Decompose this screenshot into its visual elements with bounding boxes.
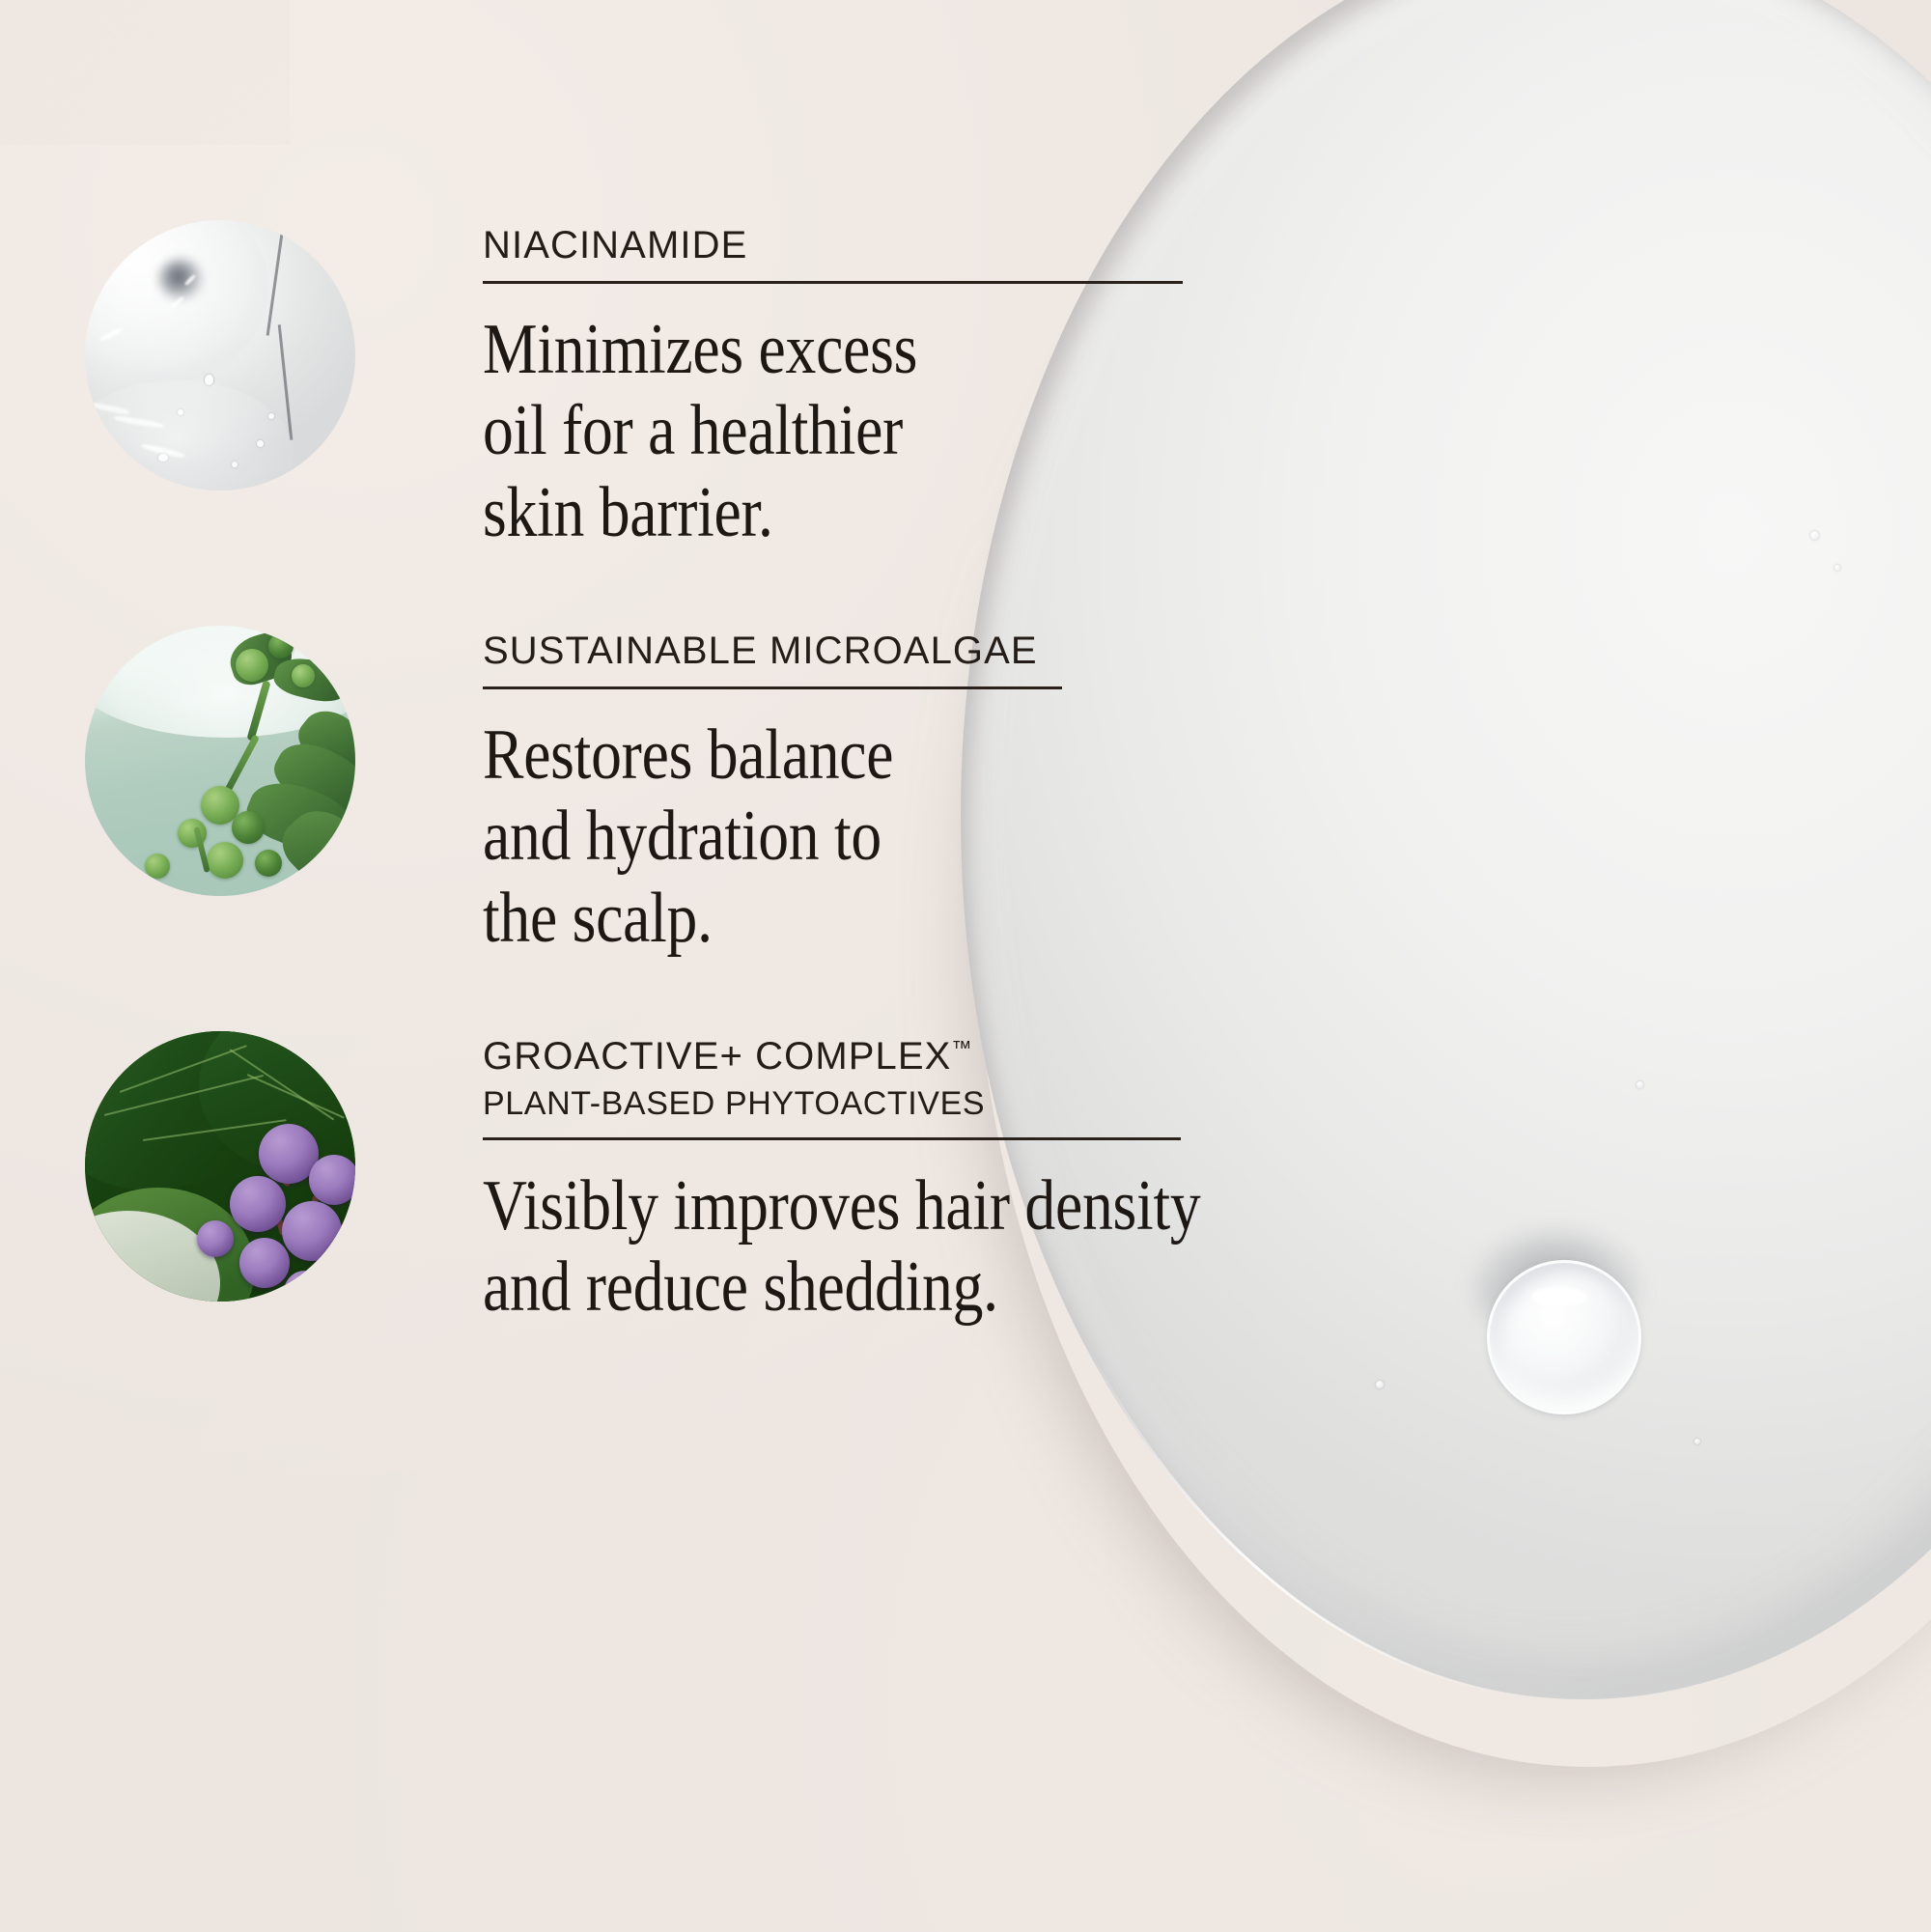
ingredient-benefits-graphic: NIACINAMIDE Minimizes excess oil for a h… — [0, 0, 1931, 1932]
heading-divider — [483, 686, 1062, 689]
purple-berries-leaf-image — [85, 1031, 355, 1302]
ingredient-heading: NIACINAMIDE — [483, 224, 1183, 267]
trademark-symbol: ™ — [951, 1038, 971, 1060]
ingredient-subheading: PLANT-BASED PHYTOACTIVES — [483, 1084, 1318, 1124]
ingredient-heading-text: GROACTIVE+ COMPLEX — [483, 1035, 951, 1078]
ingredient-text-niacinamide: NIACINAMIDE Minimizes excess oil for a h… — [483, 220, 1183, 553]
ingredient-row-groactive: GROACTIVE+ COMPLEX™ PLANT-BASED PHYTOACT… — [85, 1031, 1318, 1328]
ingredient-body-text: Visibly improves hair density and reduce… — [483, 1165, 1200, 1329]
microalgae-image — [85, 626, 355, 896]
paper-grain-texture — [0, 0, 290, 145]
heading-divider — [483, 281, 1183, 284]
ingredient-body-text: Restores balance and hydration to the sc… — [483, 714, 981, 959]
ingredient-heading: GROACTIVE+ COMPLEX™ — [483, 1035, 1318, 1078]
ingredient-row-microalgae: SUSTAINABLE MICROALGAE Restores balance … — [85, 626, 1062, 959]
ingredient-heading: SUSTAINABLE MICROALGAE — [483, 630, 1062, 673]
ingredient-text-groactive: GROACTIVE+ COMPLEX™ PLANT-BASED PHYTOACT… — [483, 1031, 1318, 1328]
ingredient-text-microalgae: SUSTAINABLE MICROALGAE Restores balance … — [483, 626, 1062, 959]
droplet-air-bubble — [1487, 1260, 1641, 1414]
ingredient-body-text: Minimizes excess oil for a healthier ski… — [483, 309, 1085, 553]
heading-divider — [483, 1137, 1181, 1140]
clear-gel-texture-image — [85, 220, 355, 490]
ingredient-row-niacinamide: NIACINAMIDE Minimizes excess oil for a h… — [85, 220, 1183, 553]
